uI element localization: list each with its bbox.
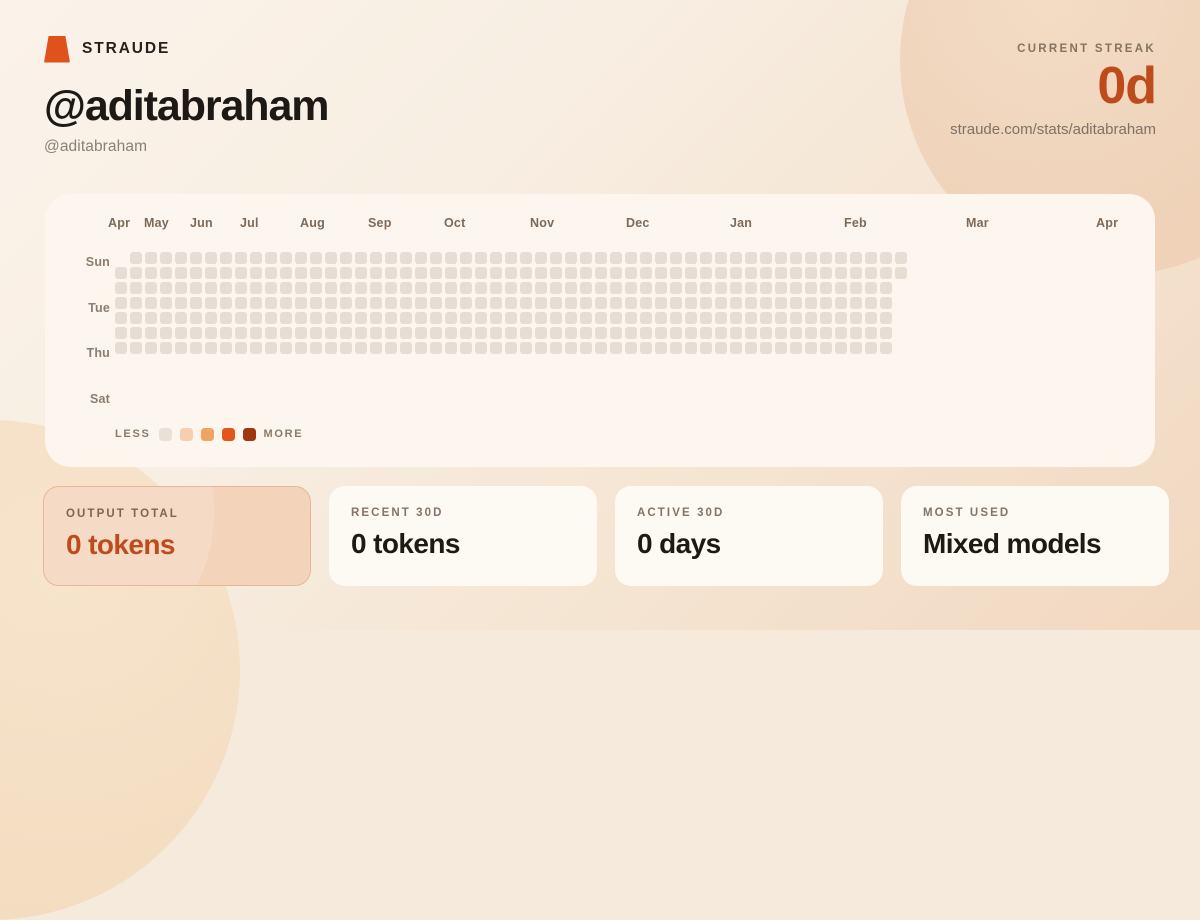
heatmap-day-cell[interactable] (355, 252, 367, 264)
heatmap-day-cell[interactable] (805, 282, 817, 294)
heatmap-day-cell[interactable] (280, 342, 292, 354)
heatmap-day-cell[interactable] (190, 312, 202, 324)
heatmap-day-cell[interactable] (310, 297, 322, 309)
heatmap-day-cell[interactable] (610, 342, 622, 354)
heatmap-day-cell[interactable] (775, 342, 787, 354)
heatmap-day-cell[interactable] (655, 282, 667, 294)
heatmap-day-cell[interactable] (505, 267, 517, 279)
heatmap-day-cell[interactable] (385, 342, 397, 354)
heatmap-day-cell[interactable] (670, 252, 682, 264)
heatmap-day-cell[interactable] (250, 267, 262, 279)
heatmap-day-cell[interactable] (130, 342, 142, 354)
heatmap-day-cell[interactable] (265, 267, 277, 279)
heatmap-day-cell[interactable] (835, 282, 847, 294)
heatmap-day-cell[interactable] (535, 267, 547, 279)
heatmap-day-cell[interactable] (385, 252, 397, 264)
heatmap-day-cell[interactable] (580, 267, 592, 279)
heatmap-day-cell[interactable] (865, 297, 877, 309)
heatmap-day-cell[interactable] (580, 297, 592, 309)
heatmap-day-cell[interactable] (595, 282, 607, 294)
heatmap-day-cell[interactable] (190, 327, 202, 339)
heatmap-day-cell[interactable] (190, 252, 202, 264)
heatmap-day-cell[interactable] (820, 327, 832, 339)
heatmap-day-cell[interactable] (745, 342, 757, 354)
heatmap-day-cell[interactable] (400, 267, 412, 279)
heatmap-day-cell[interactable] (865, 327, 877, 339)
heatmap-day-cell[interactable] (730, 312, 742, 324)
heatmap-day-cell[interactable] (685, 267, 697, 279)
heatmap-day-cell[interactable] (325, 342, 337, 354)
heatmap-day-cell[interactable] (235, 327, 247, 339)
heatmap-day-cell[interactable] (370, 282, 382, 294)
heatmap-day-cell[interactable] (760, 282, 772, 294)
heatmap-day-cell[interactable] (190, 267, 202, 279)
heatmap-day-cell[interactable] (670, 342, 682, 354)
heatmap-day-cell[interactable] (385, 267, 397, 279)
heatmap-day-cell[interactable] (325, 282, 337, 294)
heatmap-day-cell[interactable] (535, 282, 547, 294)
heatmap-day-cell[interactable] (460, 342, 472, 354)
heatmap-day-cell[interactable] (595, 252, 607, 264)
heatmap-day-cell[interactable] (625, 252, 637, 264)
heatmap-day-cell[interactable] (730, 342, 742, 354)
heatmap-day-cell[interactable] (490, 252, 502, 264)
heatmap-day-cell[interactable] (790, 282, 802, 294)
heatmap-day-cell[interactable] (250, 342, 262, 354)
heatmap-day-cell[interactable] (220, 312, 232, 324)
heatmap-day-cell[interactable] (355, 267, 367, 279)
heatmap-day-cell[interactable] (655, 342, 667, 354)
heatmap-day-cell[interactable] (415, 297, 427, 309)
heatmap-day-cell[interactable] (265, 282, 277, 294)
heatmap-day-cell[interactable] (490, 282, 502, 294)
heatmap-day-cell[interactable] (145, 297, 157, 309)
heatmap-day-cell[interactable] (790, 267, 802, 279)
heatmap-day-cell[interactable] (700, 252, 712, 264)
heatmap-day-cell[interactable] (460, 327, 472, 339)
heatmap-day-cell[interactable] (265, 252, 277, 264)
heatmap-day-cell[interactable] (685, 282, 697, 294)
heatmap-day-cell[interactable] (370, 342, 382, 354)
heatmap-day-cell[interactable] (520, 252, 532, 264)
heatmap-day-cell[interactable] (520, 342, 532, 354)
heatmap-day-cell[interactable] (445, 282, 457, 294)
heatmap-day-cell[interactable] (535, 312, 547, 324)
heatmap-day-cell[interactable] (700, 327, 712, 339)
heatmap-day-cell[interactable] (535, 252, 547, 264)
heatmap-day-cell[interactable] (655, 312, 667, 324)
heatmap-day-cell[interactable] (460, 297, 472, 309)
heatmap-day-cell[interactable] (850, 252, 862, 264)
heatmap-day-cell[interactable] (235, 267, 247, 279)
heatmap-day-cell[interactable] (160, 312, 172, 324)
heatmap-day-cell[interactable] (550, 297, 562, 309)
heatmap-day-cell[interactable] (220, 327, 232, 339)
heatmap-day-cell[interactable] (220, 297, 232, 309)
heatmap-day-cell[interactable] (865, 252, 877, 264)
heatmap-day-cell[interactable] (805, 312, 817, 324)
heatmap-day-cell[interactable] (445, 342, 457, 354)
heatmap-day-cell[interactable] (865, 267, 877, 279)
heatmap-day-cell[interactable] (280, 282, 292, 294)
heatmap-day-cell[interactable] (565, 297, 577, 309)
heatmap-day-cell[interactable] (640, 342, 652, 354)
heatmap-day-cell[interactable] (190, 342, 202, 354)
heatmap-day-cell[interactable] (835, 342, 847, 354)
heatmap-day-cell[interactable] (715, 342, 727, 354)
heatmap-day-cell[interactable] (610, 312, 622, 324)
heatmap-day-cell[interactable] (790, 252, 802, 264)
heatmap-day-cell[interactable] (655, 252, 667, 264)
heatmap-day-cell[interactable] (445, 267, 457, 279)
heatmap-day-cell[interactable] (115, 267, 127, 279)
heatmap-day-cell[interactable] (460, 282, 472, 294)
heatmap-day-cell[interactable] (175, 342, 187, 354)
heatmap-day-cell[interactable] (640, 327, 652, 339)
heatmap-day-cell[interactable] (430, 252, 442, 264)
heatmap-day-cell[interactable] (850, 267, 862, 279)
heatmap-day-cell[interactable] (835, 267, 847, 279)
heatmap-day-cell[interactable] (730, 267, 742, 279)
heatmap-day-cell[interactable] (550, 252, 562, 264)
heatmap-day-cell[interactable] (340, 312, 352, 324)
heatmap-day-cell[interactable] (610, 327, 622, 339)
heatmap-day-cell[interactable] (280, 327, 292, 339)
heatmap-day-cell[interactable] (655, 327, 667, 339)
heatmap-day-cell[interactable] (280, 267, 292, 279)
heatmap-day-cell[interactable] (490, 297, 502, 309)
heatmap-day-cell[interactable] (700, 267, 712, 279)
heatmap-day-cell[interactable] (175, 312, 187, 324)
heatmap-day-cell[interactable] (310, 342, 322, 354)
heatmap-day-cell[interactable] (430, 267, 442, 279)
heatmap-day-cell[interactable] (475, 327, 487, 339)
heatmap-day-cell[interactable] (115, 297, 127, 309)
heatmap-day-cell[interactable] (685, 342, 697, 354)
heatmap-day-cell[interactable] (325, 327, 337, 339)
heatmap-day-cell[interactable] (430, 342, 442, 354)
heatmap-day-cell[interactable] (520, 312, 532, 324)
heatmap-day-cell[interactable] (400, 327, 412, 339)
heatmap-day-cell[interactable] (565, 312, 577, 324)
heatmap-day-cell[interactable] (445, 312, 457, 324)
heatmap-day-cell[interactable] (370, 267, 382, 279)
heatmap-day-cell[interactable] (370, 312, 382, 324)
heatmap-day-cell[interactable] (895, 252, 907, 264)
heatmap-day-cell[interactable] (235, 252, 247, 264)
heatmap-day-cell[interactable] (265, 312, 277, 324)
heatmap-day-cell[interactable] (850, 297, 862, 309)
heatmap-day-cell[interactable] (355, 282, 367, 294)
heatmap-day-cell[interactable] (550, 282, 562, 294)
heatmap-day-cell[interactable] (880, 327, 892, 339)
heatmap-day-cell[interactable] (790, 312, 802, 324)
heatmap-day-cell[interactable] (460, 267, 472, 279)
heatmap-day-cell[interactable] (265, 342, 277, 354)
heatmap-day-cell[interactable] (610, 267, 622, 279)
heatmap-day-cell[interactable] (475, 312, 487, 324)
heatmap-day-cell[interactable] (715, 282, 727, 294)
heatmap-day-cell[interactable] (505, 297, 517, 309)
heatmap-day-cell[interactable] (130, 252, 142, 264)
heatmap-day-cell[interactable] (565, 327, 577, 339)
heatmap-day-cell[interactable] (205, 312, 217, 324)
heatmap-day-cell[interactable] (640, 297, 652, 309)
heatmap-day-cell[interactable] (250, 312, 262, 324)
heatmap-day-cell[interactable] (220, 282, 232, 294)
heatmap-day-cell[interactable] (160, 327, 172, 339)
heatmap-day-cell[interactable] (325, 312, 337, 324)
heatmap-day-cell[interactable] (670, 267, 682, 279)
heatmap-day-cell[interactable] (850, 282, 862, 294)
heatmap-day-cell[interactable] (505, 252, 517, 264)
heatmap-day-cell[interactable] (310, 252, 322, 264)
heatmap-day-cell[interactable] (505, 327, 517, 339)
heatmap-day-cell[interactable] (385, 282, 397, 294)
heatmap-day-cell[interactable] (430, 327, 442, 339)
heatmap-day-cell[interactable] (865, 342, 877, 354)
heatmap-day-cell[interactable] (400, 252, 412, 264)
heatmap-day-cell[interactable] (820, 297, 832, 309)
heatmap-day-cell[interactable] (880, 312, 892, 324)
heatmap-day-cell[interactable] (415, 267, 427, 279)
heatmap-day-cell[interactable] (745, 312, 757, 324)
heatmap-day-cell[interactable] (130, 297, 142, 309)
heatmap-day-cell[interactable] (400, 312, 412, 324)
heatmap-day-cell[interactable] (610, 297, 622, 309)
heatmap-day-cell[interactable] (175, 267, 187, 279)
heatmap-day-cell[interactable] (295, 312, 307, 324)
heatmap-day-cell[interactable] (535, 297, 547, 309)
heatmap-day-cell[interactable] (805, 252, 817, 264)
heatmap-day-cell[interactable] (790, 342, 802, 354)
heatmap-day-cell[interactable] (235, 282, 247, 294)
heatmap-day-cell[interactable] (115, 282, 127, 294)
heatmap-day-cell[interactable] (820, 342, 832, 354)
heatmap-day-cell[interactable] (490, 267, 502, 279)
heatmap-day-cell[interactable] (130, 267, 142, 279)
heatmap-day-cell[interactable] (520, 327, 532, 339)
heatmap-day-cell[interactable] (475, 252, 487, 264)
heatmap-day-cell[interactable] (595, 342, 607, 354)
heatmap-day-cell[interactable] (280, 297, 292, 309)
heatmap-day-cell[interactable] (355, 327, 367, 339)
heatmap-day-cell[interactable] (340, 252, 352, 264)
heatmap-day-cell[interactable] (415, 312, 427, 324)
heatmap-day-cell[interactable] (850, 342, 862, 354)
heatmap-day-cell[interactable] (715, 312, 727, 324)
heatmap-day-cell[interactable] (160, 252, 172, 264)
heatmap-day-cell[interactable] (655, 297, 667, 309)
heatmap-day-cell[interactable] (820, 267, 832, 279)
heatmap-day-cell[interactable] (655, 267, 667, 279)
heatmap-day-cell[interactable] (325, 267, 337, 279)
heatmap-day-cell[interactable] (745, 327, 757, 339)
heatmap-day-cell[interactable] (835, 312, 847, 324)
heatmap-day-cell[interactable] (625, 342, 637, 354)
heatmap-day-cell[interactable] (730, 327, 742, 339)
heatmap-day-cell[interactable] (595, 297, 607, 309)
heatmap-day-cell[interactable] (880, 342, 892, 354)
heatmap-day-cell[interactable] (550, 327, 562, 339)
heatmap-day-cell[interactable] (805, 342, 817, 354)
heatmap-day-cell[interactable] (475, 297, 487, 309)
heatmap-day-cell[interactable] (370, 297, 382, 309)
heatmap-day-cell[interactable] (520, 282, 532, 294)
heatmap-day-cell[interactable] (250, 252, 262, 264)
heatmap-day-cell[interactable] (460, 252, 472, 264)
heatmap-day-cell[interactable] (235, 297, 247, 309)
heatmap-day-cell[interactable] (280, 312, 292, 324)
heatmap-day-cell[interactable] (790, 297, 802, 309)
heatmap-day-cell[interactable] (685, 252, 697, 264)
heatmap-day-cell[interactable] (820, 282, 832, 294)
heatmap-day-cell[interactable] (550, 267, 562, 279)
heatmap-day-cell[interactable] (490, 342, 502, 354)
heatmap-day-cell[interactable] (775, 327, 787, 339)
heatmap-day-cell[interactable] (580, 282, 592, 294)
heatmap-day-cell[interactable] (310, 282, 322, 294)
heatmap-day-cell[interactable] (430, 282, 442, 294)
heatmap-day-cell[interactable] (250, 297, 262, 309)
heatmap-day-cell[interactable] (565, 282, 577, 294)
heatmap-day-cell[interactable] (370, 327, 382, 339)
heatmap-day-cell[interactable] (700, 282, 712, 294)
heatmap-day-cell[interactable] (805, 327, 817, 339)
heatmap-day-cell[interactable] (760, 312, 772, 324)
heatmap-day-cell[interactable] (730, 297, 742, 309)
heatmap-day-cell[interactable] (835, 252, 847, 264)
heatmap-day-cell[interactable] (250, 327, 262, 339)
heatmap-day-cell[interactable] (205, 267, 217, 279)
heatmap-day-cell[interactable] (535, 327, 547, 339)
heatmap-day-cell[interactable] (565, 252, 577, 264)
heatmap-day-cell[interactable] (580, 342, 592, 354)
heatmap-day-cell[interactable] (640, 252, 652, 264)
heatmap-day-cell[interactable] (595, 312, 607, 324)
heatmap-day-cell[interactable] (400, 282, 412, 294)
heatmap-day-cell[interactable] (550, 342, 562, 354)
heatmap-day-cell[interactable] (445, 252, 457, 264)
heatmap-day-cell[interactable] (505, 312, 517, 324)
heatmap-day-cell[interactable] (235, 342, 247, 354)
heatmap-day-cell[interactable] (340, 297, 352, 309)
heatmap-day-cell[interactable] (760, 252, 772, 264)
heatmap-day-cell[interactable] (190, 282, 202, 294)
heatmap-day-cell[interactable] (685, 312, 697, 324)
heatmap-day-cell[interactable] (235, 312, 247, 324)
heatmap-day-cell[interactable] (220, 267, 232, 279)
heatmap-day-cell[interactable] (520, 267, 532, 279)
heatmap-day-cell[interactable] (505, 342, 517, 354)
heatmap-day-cell[interactable] (475, 342, 487, 354)
heatmap-day-cell[interactable] (175, 252, 187, 264)
heatmap-day-cell[interactable] (640, 267, 652, 279)
heatmap-day-cell[interactable] (175, 327, 187, 339)
heatmap-day-cell[interactable] (205, 282, 217, 294)
heatmap-day-cell[interactable] (160, 342, 172, 354)
heatmap-day-cell[interactable] (175, 297, 187, 309)
heatmap-day-cell[interactable] (565, 267, 577, 279)
heatmap-day-cell[interactable] (190, 297, 202, 309)
heatmap-day-cell[interactable] (775, 267, 787, 279)
heatmap-day-cell[interactable] (760, 327, 772, 339)
heatmap-day-cell[interactable] (310, 312, 322, 324)
heatmap-day-cell[interactable] (115, 342, 127, 354)
heatmap-day-cell[interactable] (670, 327, 682, 339)
heatmap-day-cell[interactable] (175, 282, 187, 294)
heatmap-day-cell[interactable] (685, 327, 697, 339)
heatmap-day-cell[interactable] (220, 342, 232, 354)
heatmap-day-cell[interactable] (625, 267, 637, 279)
heatmap-day-cell[interactable] (145, 267, 157, 279)
heatmap-day-cell[interactable] (610, 282, 622, 294)
heatmap-day-cell[interactable] (760, 342, 772, 354)
heatmap-day-cell[interactable] (340, 342, 352, 354)
heatmap-day-cell[interactable] (430, 312, 442, 324)
heatmap-day-cell[interactable] (880, 252, 892, 264)
heatmap-day-cell[interactable] (340, 267, 352, 279)
heatmap-day-cell[interactable] (355, 342, 367, 354)
heatmap-day-cell[interactable] (775, 312, 787, 324)
heatmap-day-cell[interactable] (790, 327, 802, 339)
heatmap-day-cell[interactable] (160, 297, 172, 309)
heatmap-day-cell[interactable] (580, 312, 592, 324)
heatmap-day-cell[interactable] (820, 312, 832, 324)
heatmap-day-cell[interactable] (625, 327, 637, 339)
heatmap-day-cell[interactable] (880, 267, 892, 279)
heatmap-day-cell[interactable] (355, 312, 367, 324)
heatmap-day-cell[interactable] (295, 297, 307, 309)
heatmap-day-cell[interactable] (775, 282, 787, 294)
heatmap-day-cell[interactable] (685, 297, 697, 309)
heatmap-day-cell[interactable] (700, 342, 712, 354)
heatmap-day-cell[interactable] (625, 282, 637, 294)
heatmap-day-cell[interactable] (130, 327, 142, 339)
heatmap-day-cell[interactable] (145, 252, 157, 264)
heatmap-day-cell[interactable] (130, 312, 142, 324)
heatmap-day-cell[interactable] (835, 327, 847, 339)
heatmap-day-cell[interactable] (745, 282, 757, 294)
heatmap-day-cell[interactable] (160, 267, 172, 279)
heatmap-day-cell[interactable] (310, 267, 322, 279)
heatmap-day-cell[interactable] (610, 252, 622, 264)
heatmap-day-cell[interactable] (310, 327, 322, 339)
heatmap-day-cell[interactable] (760, 297, 772, 309)
heatmap-day-cell[interactable] (385, 312, 397, 324)
heatmap-day-cell[interactable] (370, 252, 382, 264)
heatmap-day-cell[interactable] (505, 282, 517, 294)
heatmap-day-cell[interactable] (490, 312, 502, 324)
heatmap-day-cell[interactable] (850, 327, 862, 339)
heatmap-day-cell[interactable] (715, 327, 727, 339)
heatmap-day-cell[interactable] (880, 297, 892, 309)
heatmap-day-cell[interactable] (445, 327, 457, 339)
heatmap-day-cell[interactable] (550, 312, 562, 324)
heatmap-day-cell[interactable] (415, 342, 427, 354)
heatmap-day-cell[interactable] (640, 312, 652, 324)
heatmap-day-cell[interactable] (625, 312, 637, 324)
heatmap-day-cell[interactable] (205, 327, 217, 339)
heatmap-day-cell[interactable] (625, 297, 637, 309)
heatmap-day-cell[interactable] (700, 312, 712, 324)
heatmap-day-cell[interactable] (805, 267, 817, 279)
heatmap-day-cell[interactable] (895, 267, 907, 279)
heatmap-day-cell[interactable] (775, 252, 787, 264)
heatmap-day-cell[interactable] (595, 267, 607, 279)
heatmap-day-cell[interactable] (805, 297, 817, 309)
heatmap-day-cell[interactable] (580, 252, 592, 264)
